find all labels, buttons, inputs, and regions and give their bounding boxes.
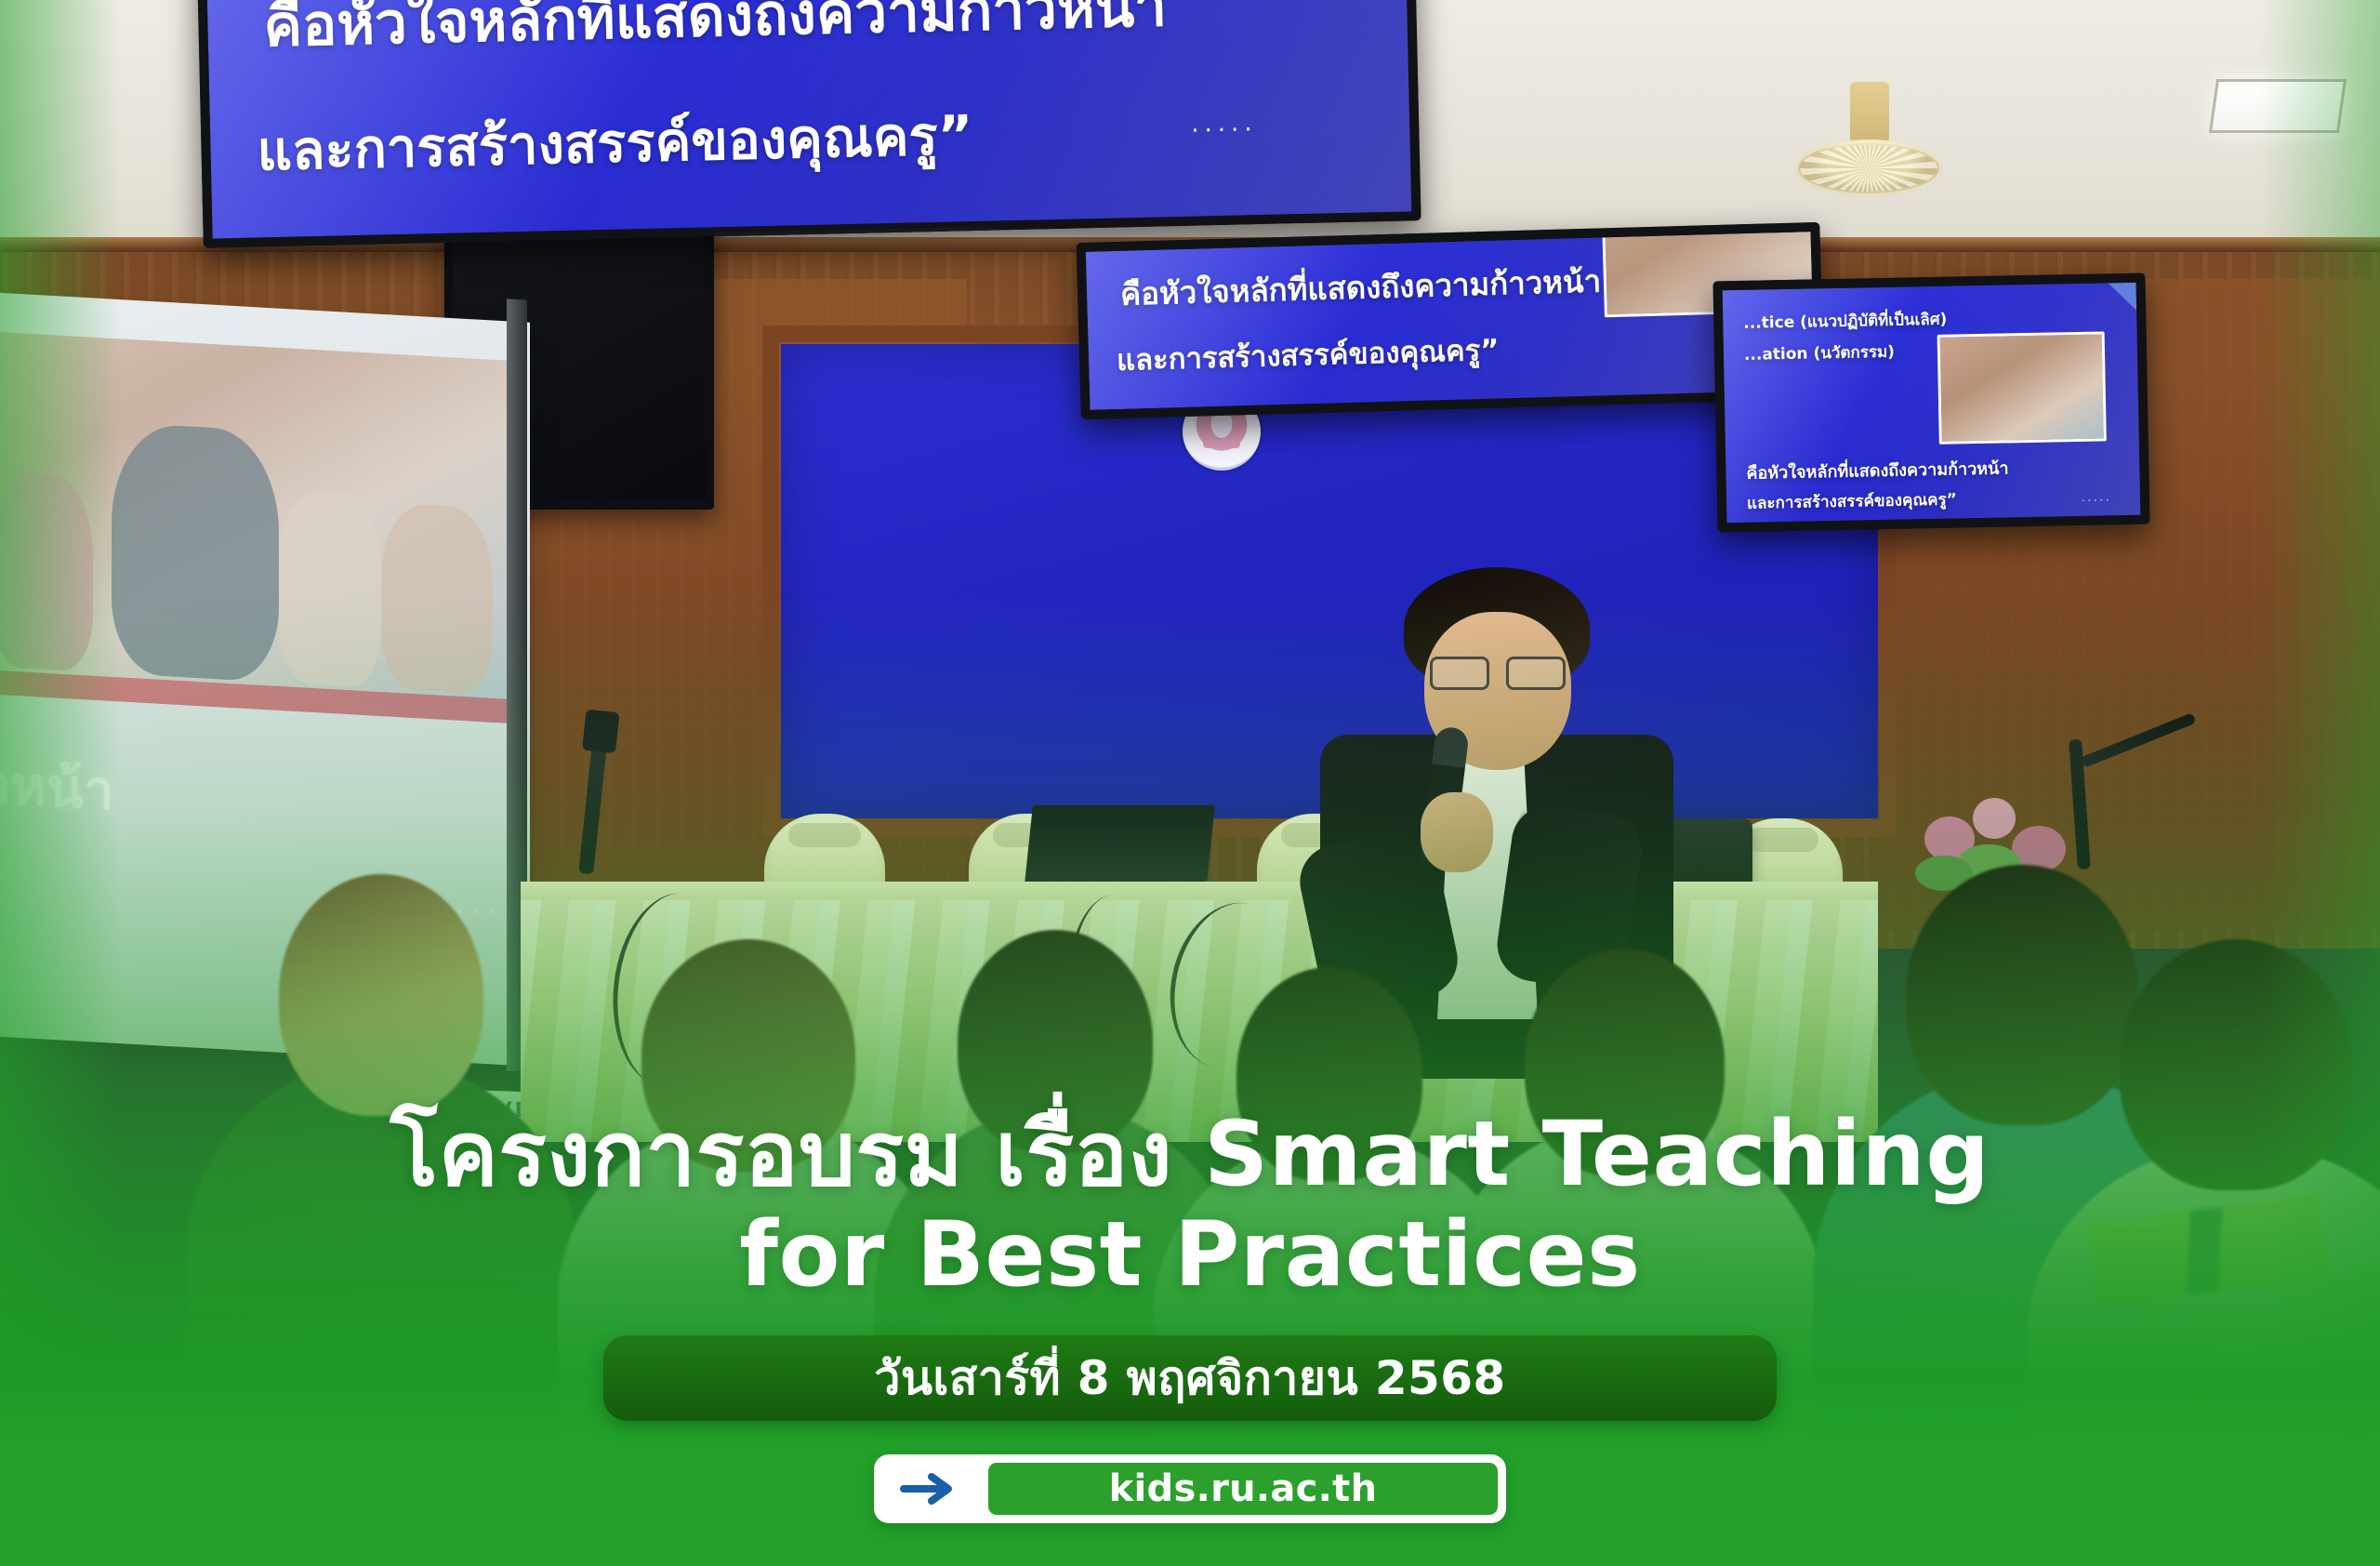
website-url-text: kids.ru.ac.th: [1109, 1467, 1378, 1510]
event-poster: าวหน้า ู” ..... VERTEX คือหัวใจหลักที่แส…: [0, 0, 2380, 1566]
poster-text-overlay: โครงการอบรม เรื่อง Smart Teaching for Be…: [0, 0, 2380, 1566]
event-date-badge: วันเสาร์ที่ 8 พฤศจิกายน 2568: [603, 1335, 1777, 1421]
event-date-text: วันเสาร์ที่ 8 พฤศจิกายน 2568: [874, 1342, 1505, 1415]
website-url-field[interactable]: kids.ru.ac.th: [985, 1460, 1501, 1518]
page-title: โครงการอบรม เรื่อง Smart Teaching for Be…: [0, 1105, 2380, 1305]
website-url-pill[interactable]: kids.ru.ac.th: [874, 1454, 1506, 1523]
arrow-right-icon[interactable]: [879, 1460, 982, 1518]
title-line-2: for Best Practices: [0, 1205, 2380, 1306]
title-line-1: โครงการอบรม เรื่อง Smart Teaching: [390, 1102, 1990, 1206]
